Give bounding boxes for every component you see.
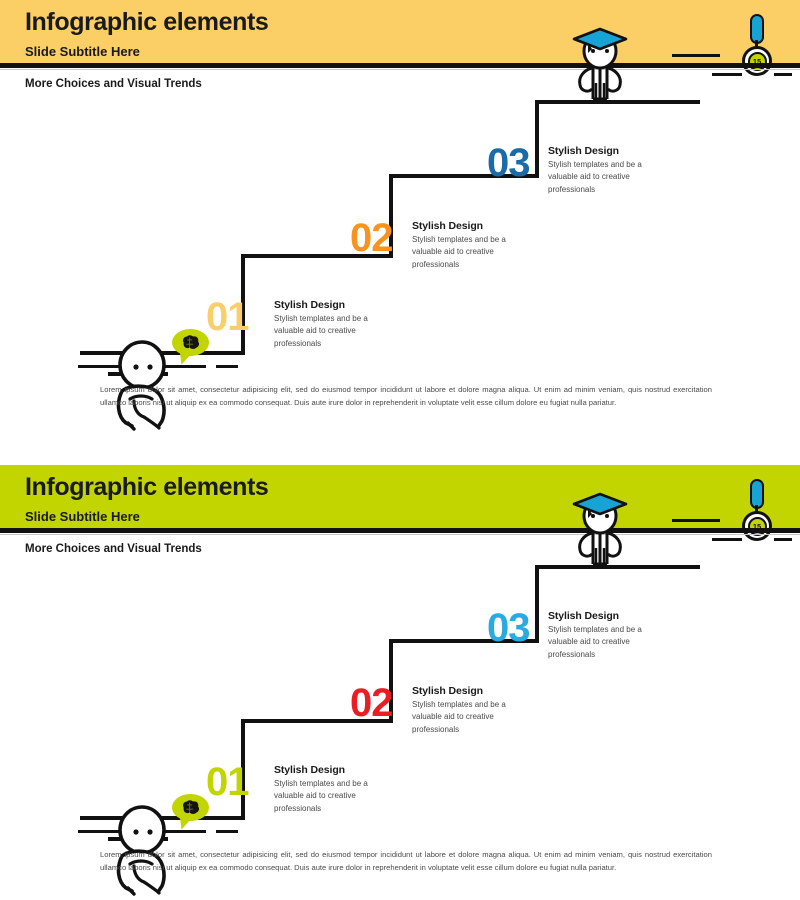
infographic-page: Infographic elements Slide Subtitle Here… <box>0 0 800 900</box>
step-number-2b: 02 <box>350 683 393 723</box>
slide-panel-1: Infographic elements Slide Subtitle Here… <box>0 0 800 435</box>
step-title-1b: Stylish Design <box>274 764 392 776</box>
step-body-2b: Stylish templates and be a valuable aid … <box>412 699 530 736</box>
step-body-2: Stylish templates and be a valuable aid … <box>412 234 530 271</box>
footer-paragraph-2: Lorem ipsum dolor sit amet, consectetur … <box>100 848 712 874</box>
step-text-3: Stylish Design Stylish templates and be … <box>548 145 666 196</box>
step-number-3b: 03 <box>487 608 530 648</box>
step-number-1: 01 <box>206 297 249 337</box>
brain-icon-2 <box>180 799 201 816</box>
step-text-2b: Stylish Design Stylish templates and be … <box>412 685 530 736</box>
graduate-figure-2 <box>562 488 638 568</box>
step-text-3b: Stylish Design Stylish templates and be … <box>548 610 666 661</box>
footer-paragraph-1: Lorem ipsum dolor sit amet, consectetur … <box>100 383 712 409</box>
step-title-2: Stylish Design <box>412 220 530 232</box>
header-divider-1 <box>0 63 800 68</box>
header-divider-thin-2 <box>0 534 800 535</box>
badge-dash-bottom-left <box>712 73 742 76</box>
graduate-icon <box>562 23 638 103</box>
header-divider-2 <box>0 528 800 533</box>
step-body-3b: Stylish templates and be a valuable aid … <box>548 624 666 661</box>
page-title: Infographic elements <box>25 8 268 37</box>
staircase-stage-2: 01 Stylish Design Stylish templates and … <box>0 543 800 838</box>
thinker-figure-1 <box>112 329 212 434</box>
staircase-stage-1: 01 Stylish Design Stylish templates and … <box>0 78 800 373</box>
brain-icon <box>180 334 201 351</box>
thinker-figure-2 <box>112 794 212 899</box>
badge-dash-bottom-left-2 <box>712 538 742 541</box>
step-text-1b: Stylish Design Stylish templates and be … <box>274 764 392 815</box>
graduate-icon-2 <box>562 488 638 568</box>
page-title-2: Infographic elements <box>25 473 268 502</box>
step-title-3b: Stylish Design <box>548 610 666 622</box>
slide-header-2: Infographic elements Slide Subtitle Here… <box>0 465 800 528</box>
page-subtitle-2: Slide Subtitle Here <box>25 509 140 524</box>
step-body-1b: Stylish templates and be a valuable aid … <box>274 778 392 815</box>
stair-riser-3b <box>535 565 539 643</box>
badge-dash-left <box>672 54 720 57</box>
ground-dash-3b <box>216 830 238 833</box>
badge-dash-bottom-right-2 <box>774 538 792 541</box>
step-title-1: Stylish Design <box>274 299 392 311</box>
step-text-2: Stylish Design Stylish templates and be … <box>412 220 530 271</box>
slide-panel-2: Infographic elements Slide Subtitle Here… <box>0 465 800 900</box>
step-number-2: 02 <box>350 218 393 258</box>
step-number-1b: 01 <box>206 762 249 802</box>
step-title-2b: Stylish Design <box>412 685 530 697</box>
slide-header-1: Infographic elements Slide Subtitle Here… <box>0 0 800 63</box>
step-number-3: 03 <box>487 143 530 183</box>
graduate-figure-1 <box>562 23 638 103</box>
stair-riser-3 <box>535 100 539 178</box>
header-divider-thin-1 <box>0 69 800 70</box>
ground-dash-3 <box>216 365 238 368</box>
step-body-1: Stylish templates and be a valuable aid … <box>274 313 392 350</box>
badge-dash-bottom-right <box>774 73 792 76</box>
step-title-3: Stylish Design <box>548 145 666 157</box>
step-text-1: Stylish Design Stylish templates and be … <box>274 299 392 350</box>
badge-dash-left-2 <box>672 519 720 522</box>
step-body-3: Stylish templates and be a valuable aid … <box>548 159 666 196</box>
page-subtitle: Slide Subtitle Here <box>25 44 140 59</box>
